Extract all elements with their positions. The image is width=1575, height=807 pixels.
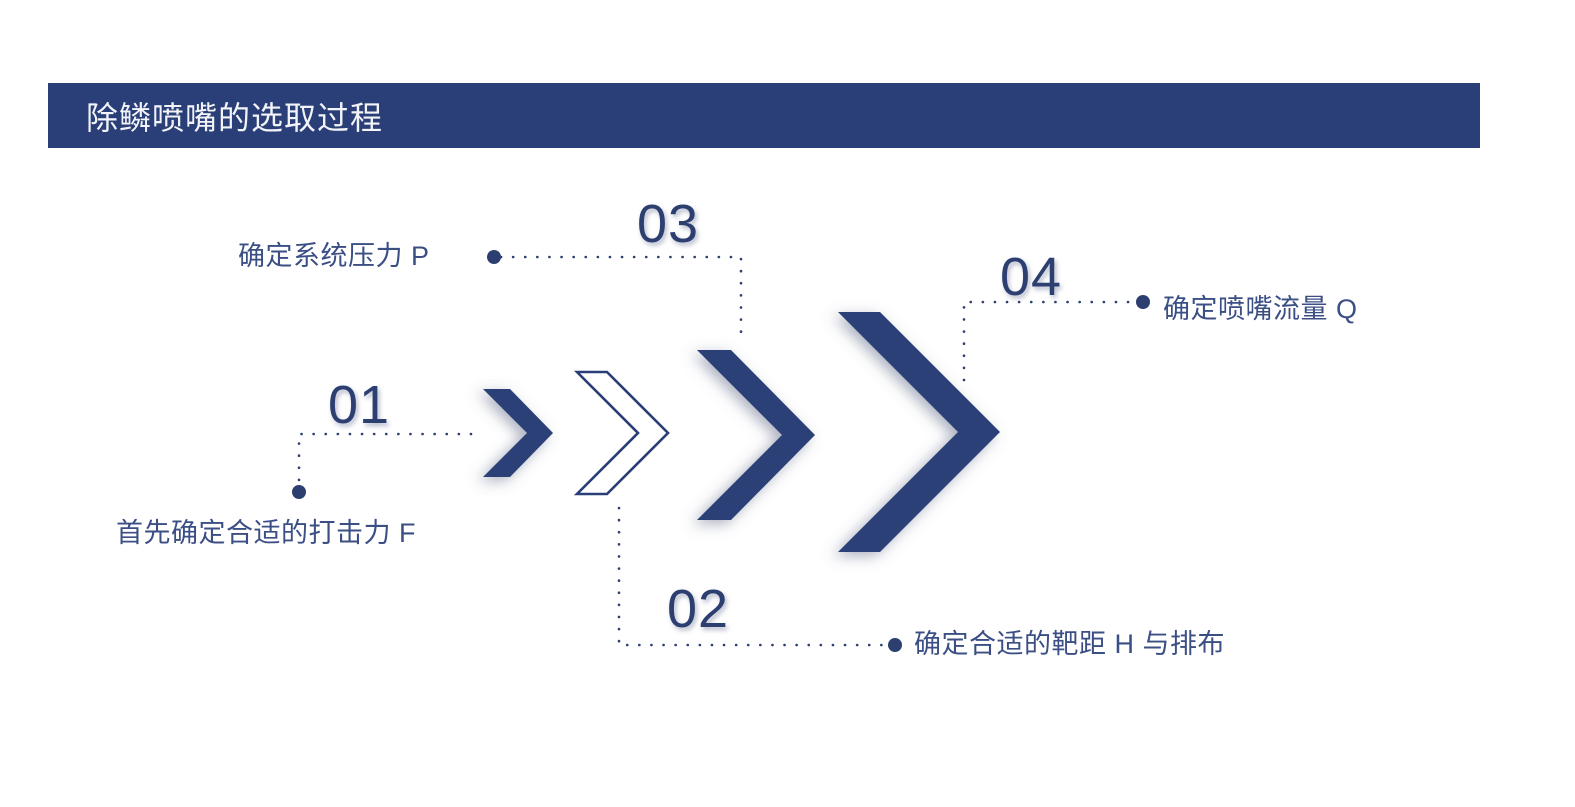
slide-canvas: 除鳞喷嘴的选取过程 [0,0,1575,807]
connector-04 [964,295,1150,380]
connector-02 [619,508,902,652]
step-number-02: 02 [667,582,729,636]
chevron-step-4[interactable] [838,312,1000,552]
step-number-04: 04 [1000,250,1062,304]
process-flow-diagram [0,0,1575,807]
step-number-01: 01 [328,378,390,432]
step-label-02: 确定合适的靶距 H 与排布 [914,631,1225,658]
chevron-step-3[interactable] [697,350,815,520]
step-number-03: 03 [637,197,699,251]
step-label-04: 确定喷嘴流量 Q [1163,296,1358,323]
chevron-step-2[interactable] [577,372,668,494]
step-label-01: 首先确定合适的打击力 F [116,520,416,547]
chevron-step-1[interactable] [483,389,553,477]
step-label-03: 确定系统压力 P [238,243,430,270]
connector-01 [292,434,472,499]
connector-03 [487,250,741,342]
